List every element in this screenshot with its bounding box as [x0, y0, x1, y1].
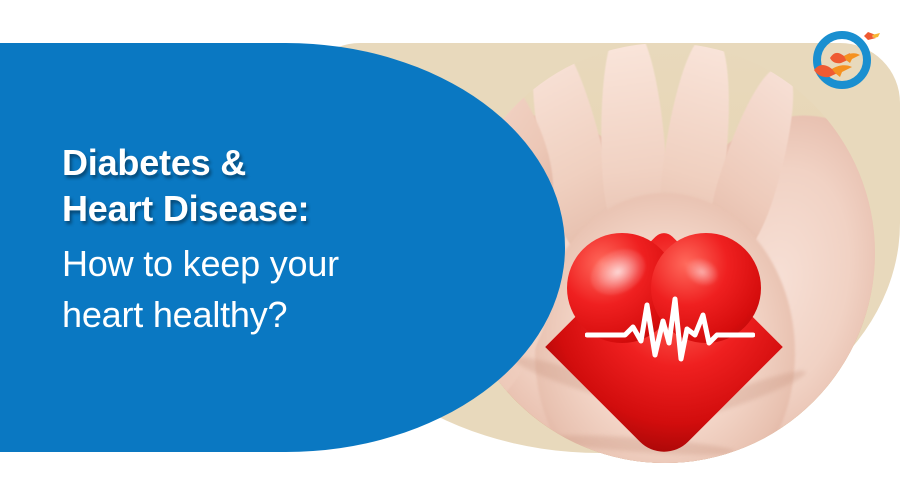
headline-bold-line-1: Diabetes &: [62, 140, 482, 186]
brand-logo[interactable]: [806, 22, 884, 92]
ecg-heartbeat-line: [585, 285, 755, 375]
logo-bird-middle: [830, 53, 860, 63]
logo-bird-lower: [814, 65, 852, 77]
headline-block: Diabetes & Heart Disease: How to keep yo…: [62, 140, 482, 340]
birds-in-circle-icon: [806, 22, 884, 92]
red-heart-with-ecg: [567, 233, 767, 423]
headline-bold-line-2: Heart Disease:: [62, 186, 482, 232]
logo-bird-small: [864, 32, 880, 40]
headline-light-line-1: How to keep your: [62, 238, 482, 289]
health-banner: Diabetes & Heart Disease: How to keep yo…: [0, 0, 910, 500]
headline-light-line-2: heart healthy?: [62, 289, 482, 340]
